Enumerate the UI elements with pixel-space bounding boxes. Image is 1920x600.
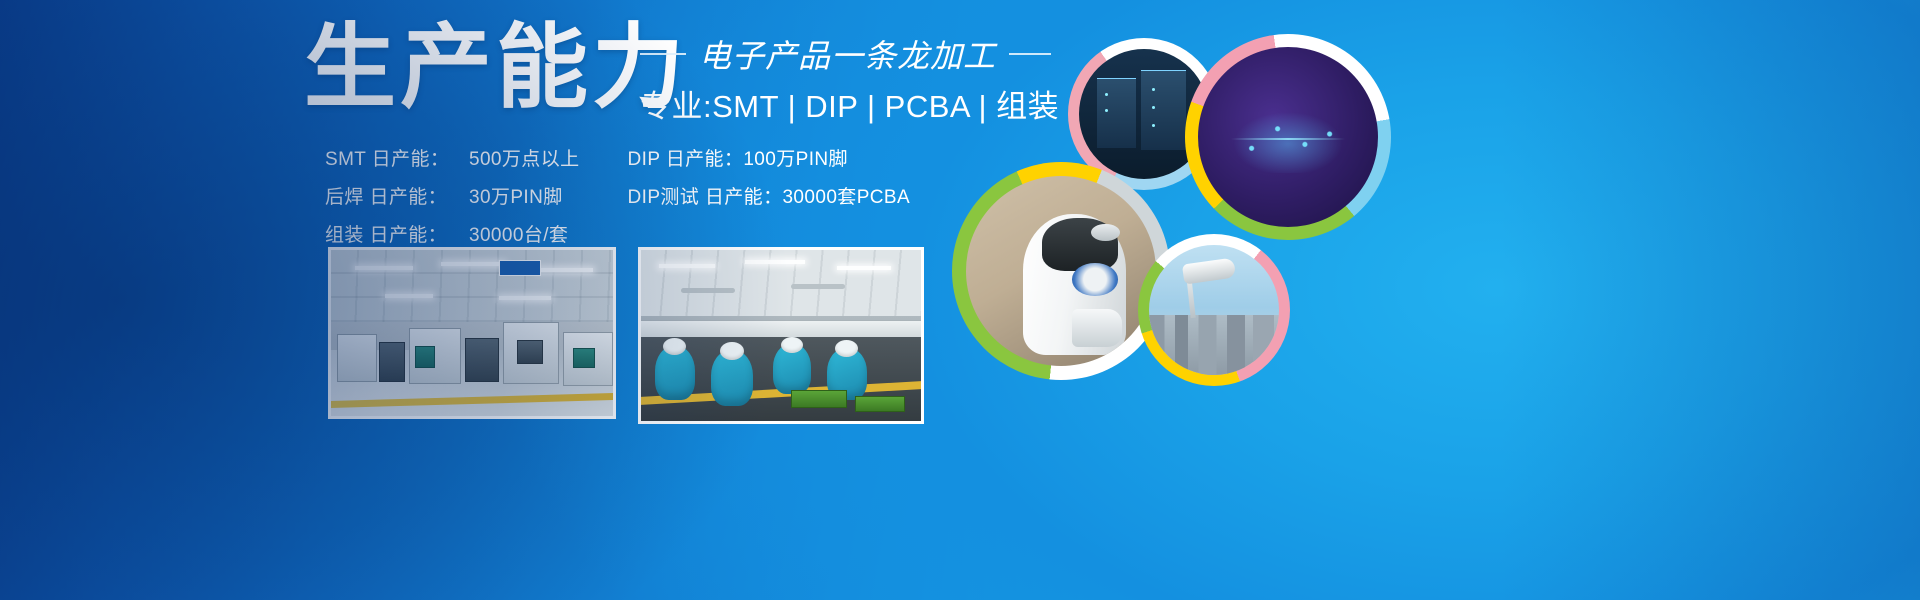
air-fryer-appliance-circle	[952, 162, 1170, 380]
server-room-circle	[1068, 38, 1220, 190]
product-circles-cluster	[940, 10, 1410, 380]
floor-marking	[331, 393, 613, 408]
promo-banner: 生产能力 电子产品一条龙加工 专业:SMT | DIP | PCBA | 组装 …	[0, 0, 1920, 600]
floor-marking	[638, 381, 924, 406]
spec-label: 组装 日产能：	[325, 221, 447, 250]
spec-value: 30000台/套	[447, 221, 580, 250]
ceiling-grid	[641, 250, 921, 316]
subtitle-services: 专业:SMT | DIP | PCBA | 组装 | 包装	[640, 81, 1120, 126]
divider-rule-right	[1009, 53, 1051, 55]
subtitle-block: 电子产品一条龙加工 专业:SMT | DIP | PCBA | 组装 | 包装	[640, 28, 1120, 126]
city-skyline	[1149, 315, 1279, 375]
page-title: 生产能力	[304, 18, 688, 118]
spec-row: SMT 日产能： 500万点以上	[325, 145, 580, 174]
specs-column-right: DIP 日产能：100万PIN脚 DIP测试 日产能：30000套PCBA	[628, 145, 911, 250]
spec-row: DIP 日产能：100万PIN脚	[628, 145, 911, 174]
subtitle-main: 电子产品一条龙加工	[699, 31, 996, 77]
floor	[331, 350, 613, 416]
smt-workshop-photo	[328, 247, 616, 419]
assembly-line-photo	[638, 247, 924, 424]
security-camera-city-circle	[1138, 234, 1290, 386]
subtitle-main-row: 电子产品一条龙加工	[640, 28, 1120, 80]
ceiling-grid	[331, 250, 613, 322]
smart-car-network-circle	[1185, 34, 1391, 240]
spec-value: 30万PIN脚	[447, 183, 580, 212]
spec-value: 500万点以上	[447, 145, 580, 174]
workshop-sign	[499, 260, 541, 276]
spec-row: 后焊 日产能： 30万PIN脚	[325, 183, 580, 212]
capacity-specs: SMT 日产能： 500万点以上 后焊 日产能： 30万PIN脚 组装 日产能：…	[325, 145, 910, 250]
divider-rule-left	[640, 53, 686, 55]
specs-column-left: SMT 日产能： 500万点以上 后焊 日产能： 30万PIN脚 组装 日产能：…	[325, 145, 580, 250]
spec-label: 后焊 日产能：	[325, 183, 447, 212]
spec-row: 组装 日产能： 30000台/套	[325, 221, 580, 250]
spec-label: SMT 日产能：	[325, 145, 447, 174]
camera-icon	[1182, 257, 1236, 284]
floor	[641, 337, 921, 421]
headline-block: 生产能力 电子产品一条龙加工 专业:SMT | DIP | PCBA | 组装 …	[300, 22, 1120, 127]
right-vignette	[1500, 0, 1920, 600]
car-network-graphic	[1223, 108, 1353, 173]
spec-row: DIP测试 日产能：30000套PCBA	[628, 183, 911, 212]
